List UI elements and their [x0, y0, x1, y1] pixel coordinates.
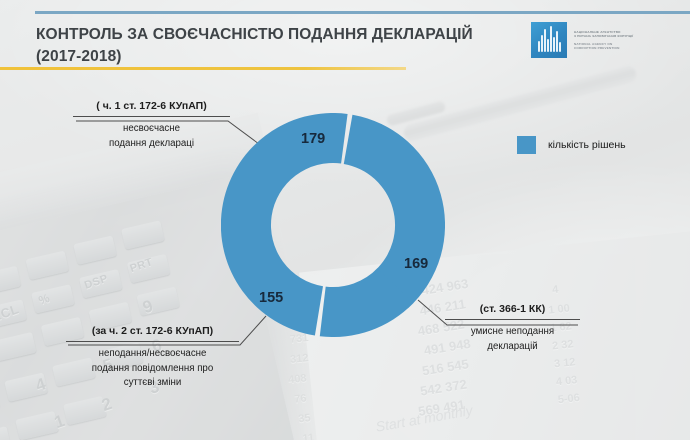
donut-chart [221, 113, 445, 337]
callout-umysne-nepodannia: (ст. 366-1 КК) умисне неподаннядеклараці… [445, 303, 580, 354]
infographic-slide: STO RCL % DSP PRT INPUT 9 6 3 2 1 4 5 42… [0, 0, 690, 440]
callout-code: (ст. 366-1 КК) [445, 303, 580, 315]
callout-divider [73, 116, 230, 117]
donut-value-155: 155 [259, 290, 283, 306]
legend-swatch-icon [517, 136, 536, 154]
callout-nesvoechasne-podannia: ( ч. 1 ст. 172-6 КУпАП) несвоєчаснеподан… [73, 100, 230, 151]
legend-label: кількість рішень [548, 139, 626, 151]
donut-value-179: 179 [301, 131, 325, 147]
chart-legend: кількість рішень [517, 136, 626, 154]
callout-code: (за ч. 2 ст. 172-6 КУпАП) [66, 325, 239, 337]
callout-nepodannia-povidomlennia: (за ч. 2 ст. 172-6 КУпАП) неподання/несв… [66, 325, 239, 391]
callout-description: умисне неподаннядекларацій [445, 325, 580, 354]
callout-divider [445, 319, 580, 320]
callout-description: неподання/несвоєчаснеподання повідомленн… [66, 347, 239, 391]
callout-divider [66, 341, 239, 342]
callout-description: несвоєчаснеподання деклараці [73, 122, 230, 151]
donut-slice-179[interactable] [344, 115, 445, 309]
callout-code: ( ч. 1 ст. 172-6 КУпАП) [73, 100, 230, 112]
donut-value-169: 169 [404, 256, 428, 272]
